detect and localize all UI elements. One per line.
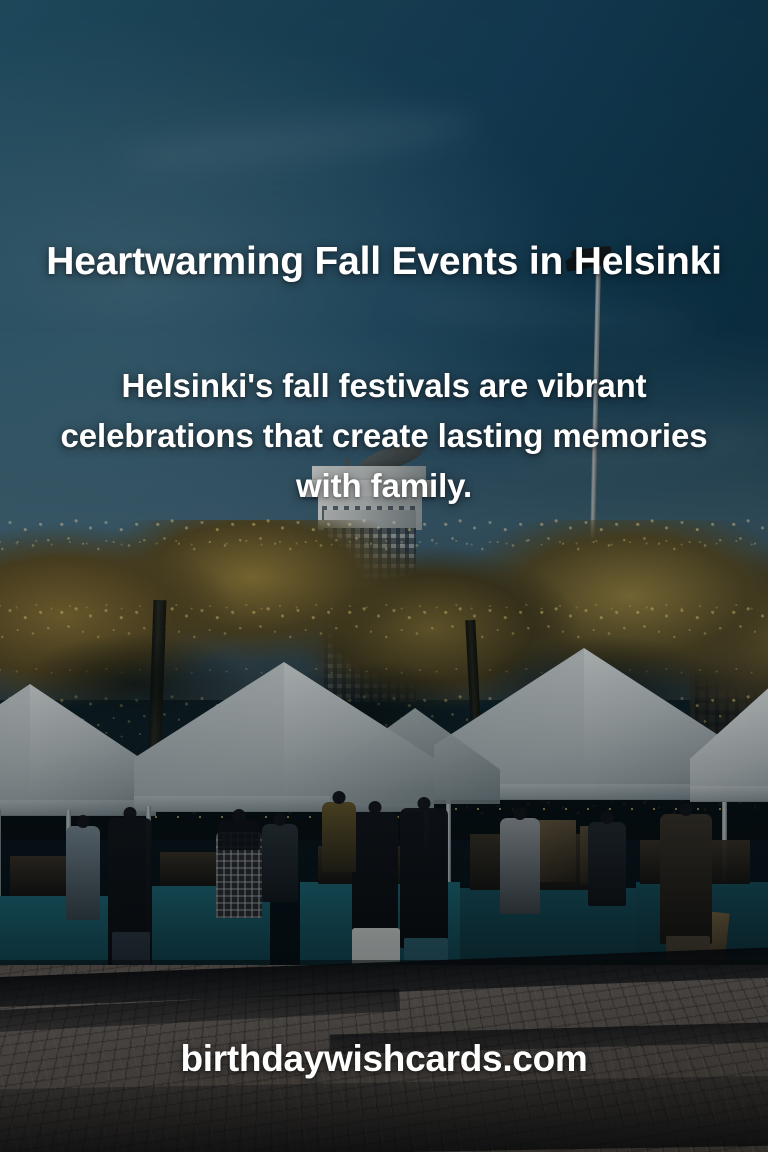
text-overlay: Heartwarming Fall Events in Helsinki Hel… (0, 0, 768, 1152)
website-url: birthdaywishcards.com (0, 1038, 768, 1080)
fall-events-greeting-card: Heartwarming Fall Events in Helsinki Hel… (0, 0, 768, 1152)
subtitle: Helsinki's fall festivals are vibrant ce… (54, 361, 714, 511)
page-title: Heartwarming Fall Events in Helsinki (34, 234, 734, 289)
